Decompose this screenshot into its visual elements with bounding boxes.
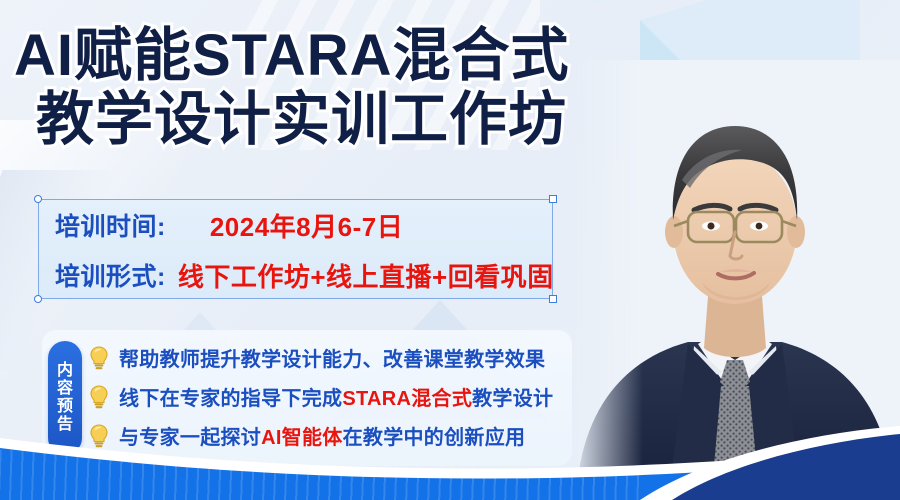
title-line-1: AI赋能STARA混合式 bbox=[14, 24, 634, 88]
bullet-text-1: 帮助教师提升教学设计能力、改善课堂教学效果 bbox=[119, 343, 545, 372]
corner-marker-top-left bbox=[34, 195, 42, 203]
poster-title: AI赋能STARA混合式 教学设计实训工作坊 bbox=[14, 24, 634, 152]
info-row-time: 培训时间: 2024年8月6-7日 bbox=[39, 200, 552, 250]
title-line-2: 教学设计实训工作坊 bbox=[36, 88, 634, 152]
training-info-box: 培训时间: 2024年8月6-7日 培训形式: 线下工作坊+线上直播+回看巩固 bbox=[38, 199, 553, 299]
corner-marker-bottom-left bbox=[34, 295, 42, 303]
bottom-wave-decoration bbox=[0, 420, 900, 500]
corner-marker-bottom-right bbox=[549, 295, 557, 303]
info-label-format: 培训形式: bbox=[55, 257, 166, 293]
info-row-format: 培训形式: 线下工作坊+线上直播+回看巩固 bbox=[39, 250, 552, 300]
badge-char-2: 容 bbox=[57, 380, 73, 398]
list-item: 帮助教师提升教学设计能力、改善课堂教学效果 bbox=[88, 338, 568, 377]
poster-canvas: AI赋能STARA混合式 教学设计实训工作坊 培训时间: 2024年8月6-7日… bbox=[0, 0, 900, 500]
list-item: 线下在专家的指导下完成STARA混合式教学设计 bbox=[88, 377, 568, 416]
info-value-time: 2024年8月6-7日 bbox=[210, 207, 403, 244]
corner-marker-top-right bbox=[549, 195, 557, 203]
badge-char-3: 预 bbox=[57, 398, 73, 416]
badge-char-1: 内 bbox=[57, 362, 73, 380]
lightbulb-icon bbox=[88, 345, 110, 371]
lightbulb-icon bbox=[88, 384, 110, 410]
info-value-format: 线下工作坊+线上直播+回看巩固 bbox=[178, 257, 554, 294]
info-label-time: 培训时间: bbox=[55, 207, 166, 243]
bullet-text-2: 线下在专家的指导下完成STARA混合式教学设计 bbox=[119, 382, 553, 411]
